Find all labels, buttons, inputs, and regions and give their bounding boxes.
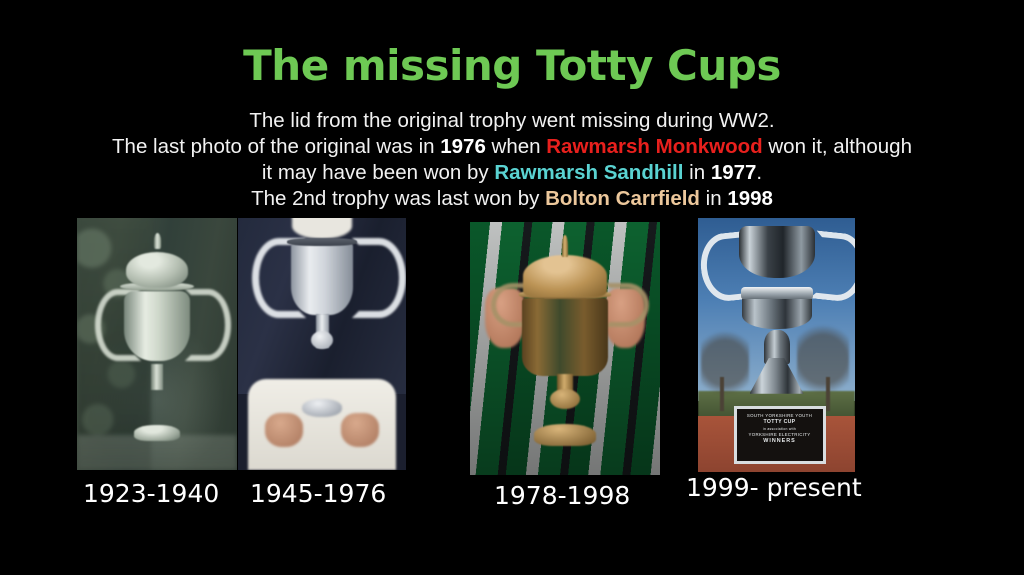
trophy-rim: [287, 238, 357, 246]
trophy-finial: [154, 233, 161, 249]
trophy-lid: [126, 252, 188, 288]
trophy-handle-right: [809, 231, 855, 304]
club-bolton-carrfield: Bolton Carrfield: [545, 187, 700, 210]
body-line-2-pre: The last photo of the original was in: [112, 135, 440, 158]
year-1977: 1977: [711, 161, 757, 184]
trophy-lower-bowl: [742, 299, 812, 329]
page-title: The missing Totty Cups: [0, 44, 1024, 88]
trophy-photo-1945-1976: [238, 218, 406, 470]
caption-1945-1976: 1945-1976: [250, 479, 386, 508]
club-rawmarsh-monkwood: Rawmarsh Monkwood: [546, 135, 762, 158]
bare-tree-left: [701, 331, 749, 411]
trophy-handle-right: [605, 283, 649, 327]
year-1976: 1976: [440, 135, 486, 158]
body-line-3: it may have been won by Rawmarsh Sandhil…: [0, 160, 1024, 186]
trophy-finial: [562, 235, 568, 257]
body-paragraph: The lid from the original trophy went mi…: [0, 108, 1024, 212]
body-line-4-pre: The 2nd trophy was last won by: [251, 187, 545, 210]
trophy-handle-right: [352, 238, 406, 318]
body-line-4-mid: in: [700, 187, 727, 210]
caption-1978-1998: 1978-1998: [494, 481, 630, 510]
trophy-handle-right: [185, 289, 231, 361]
plaque-line-2: TOTTY CUP: [737, 419, 823, 427]
body-line-1: The lid from the original trophy went mi…: [0, 108, 1024, 134]
trophy-photo-1999-present: SOUTH YORKSHIRE YOUTH TOTTY CUP in assoc…: [698, 218, 855, 472]
trophy-stem: [151, 364, 163, 390]
tree-trunk-right: [826, 377, 830, 411]
body-line-2-mid: when: [486, 135, 546, 158]
trophy-knot: [550, 389, 580, 409]
trophy-bowl: [739, 226, 815, 278]
trophy-foot: [534, 424, 596, 446]
plaque-text: SOUTH YORKSHIRE YOUTH TOTTY CUP in assoc…: [737, 409, 823, 446]
trophy-band: [741, 287, 813, 300]
club-rawmarsh-sandhill: Rawmarsh Sandhill: [494, 161, 683, 184]
year-1998: 1998: [727, 187, 773, 210]
body-line-1-text: The lid from the original trophy went mi…: [249, 109, 774, 132]
body-line-2-post: won it, although: [763, 135, 912, 158]
trophy-photo-1978-1998: [470, 222, 660, 475]
body-line-2: The last photo of the original was in 19…: [0, 134, 1024, 160]
trophy-lid: [523, 255, 607, 297]
body-line-3-mid: in: [683, 161, 710, 184]
slide-canvas: The missing Totty Cups The lid from the …: [0, 0, 1024, 575]
caption-1999-present: 1999- present: [686, 473, 862, 502]
caption-1923-1940: 1923-1940: [83, 479, 219, 508]
body-line-3-pre: it may have been won by: [262, 161, 494, 184]
player-hand-right: [341, 413, 379, 447]
plaque-line-5: WINNERS: [737, 438, 823, 446]
tree-trunk-left: [720, 377, 724, 411]
trophy-bowl: [522, 298, 608, 376]
trophy-foot: [134, 425, 180, 441]
player-hand-left: [265, 413, 303, 447]
bare-tree-right: [797, 325, 849, 411]
body-line-4: The 2nd trophy was last won by Bolton Ca…: [0, 186, 1024, 212]
trophy-plaque: SOUTH YORKSHIRE YOUTH TOTTY CUP in assoc…: [734, 406, 826, 464]
body-line-3-post: .: [756, 161, 762, 184]
trophy-foot: [302, 399, 342, 417]
trophy-bowl: [124, 291, 190, 361]
trophy-photo-1923-1940: [77, 218, 237, 470]
trophy-bowl: [291, 241, 353, 315]
